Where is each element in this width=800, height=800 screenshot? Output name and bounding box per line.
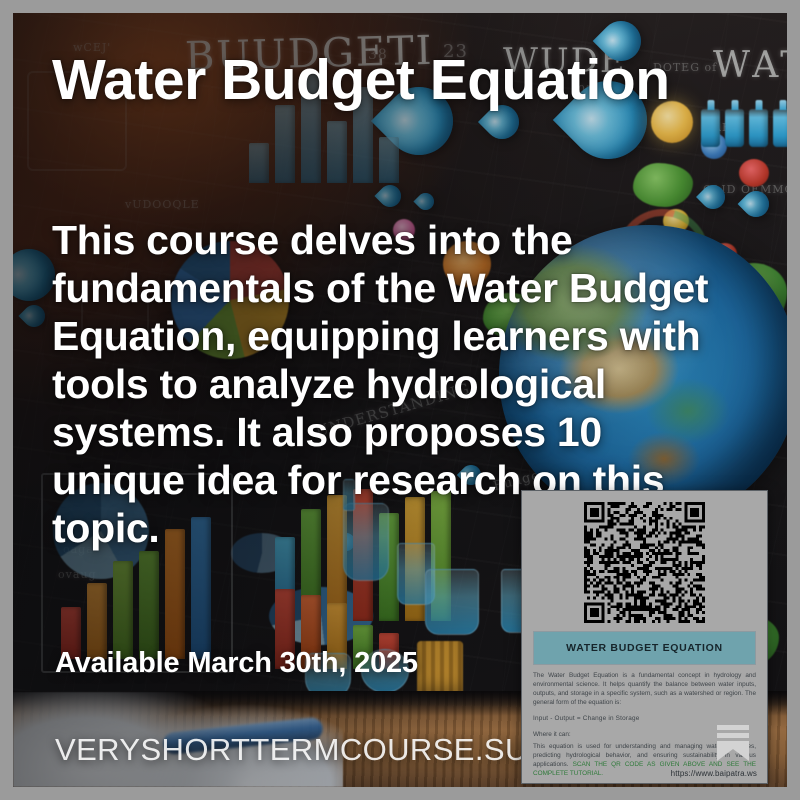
availability-date: Available March 30th, 2025 <box>55 647 418 680</box>
poster-frame: BUUDGETI WUDE WATER DOTEG of OAHG OLID O… <box>0 0 800 800</box>
card-link-label[interactable]: https://www.baipatra.ws <box>671 769 757 778</box>
card-banner-title: WATER BUDGET EQUATION <box>533 631 756 665</box>
qr-code-icon[interactable] <box>584 502 705 623</box>
qr-code-wrapper[interactable] <box>584 502 705 623</box>
qr-info-card[interactable]: WATER BUDGET EQUATION The Water Budget E… <box>521 490 768 784</box>
card-equation: Input - Output = Change in Storage <box>533 714 756 723</box>
poster-canvas: BUUDGETI WUDE WATER DOTEG of OAHG OLID O… <box>13 13 787 787</box>
card-paragraph-1: The Water Budget Equation is a fundament… <box>533 671 756 707</box>
page-title: Water Budget Equation <box>52 49 692 111</box>
substack-logo <box>715 723 751 761</box>
